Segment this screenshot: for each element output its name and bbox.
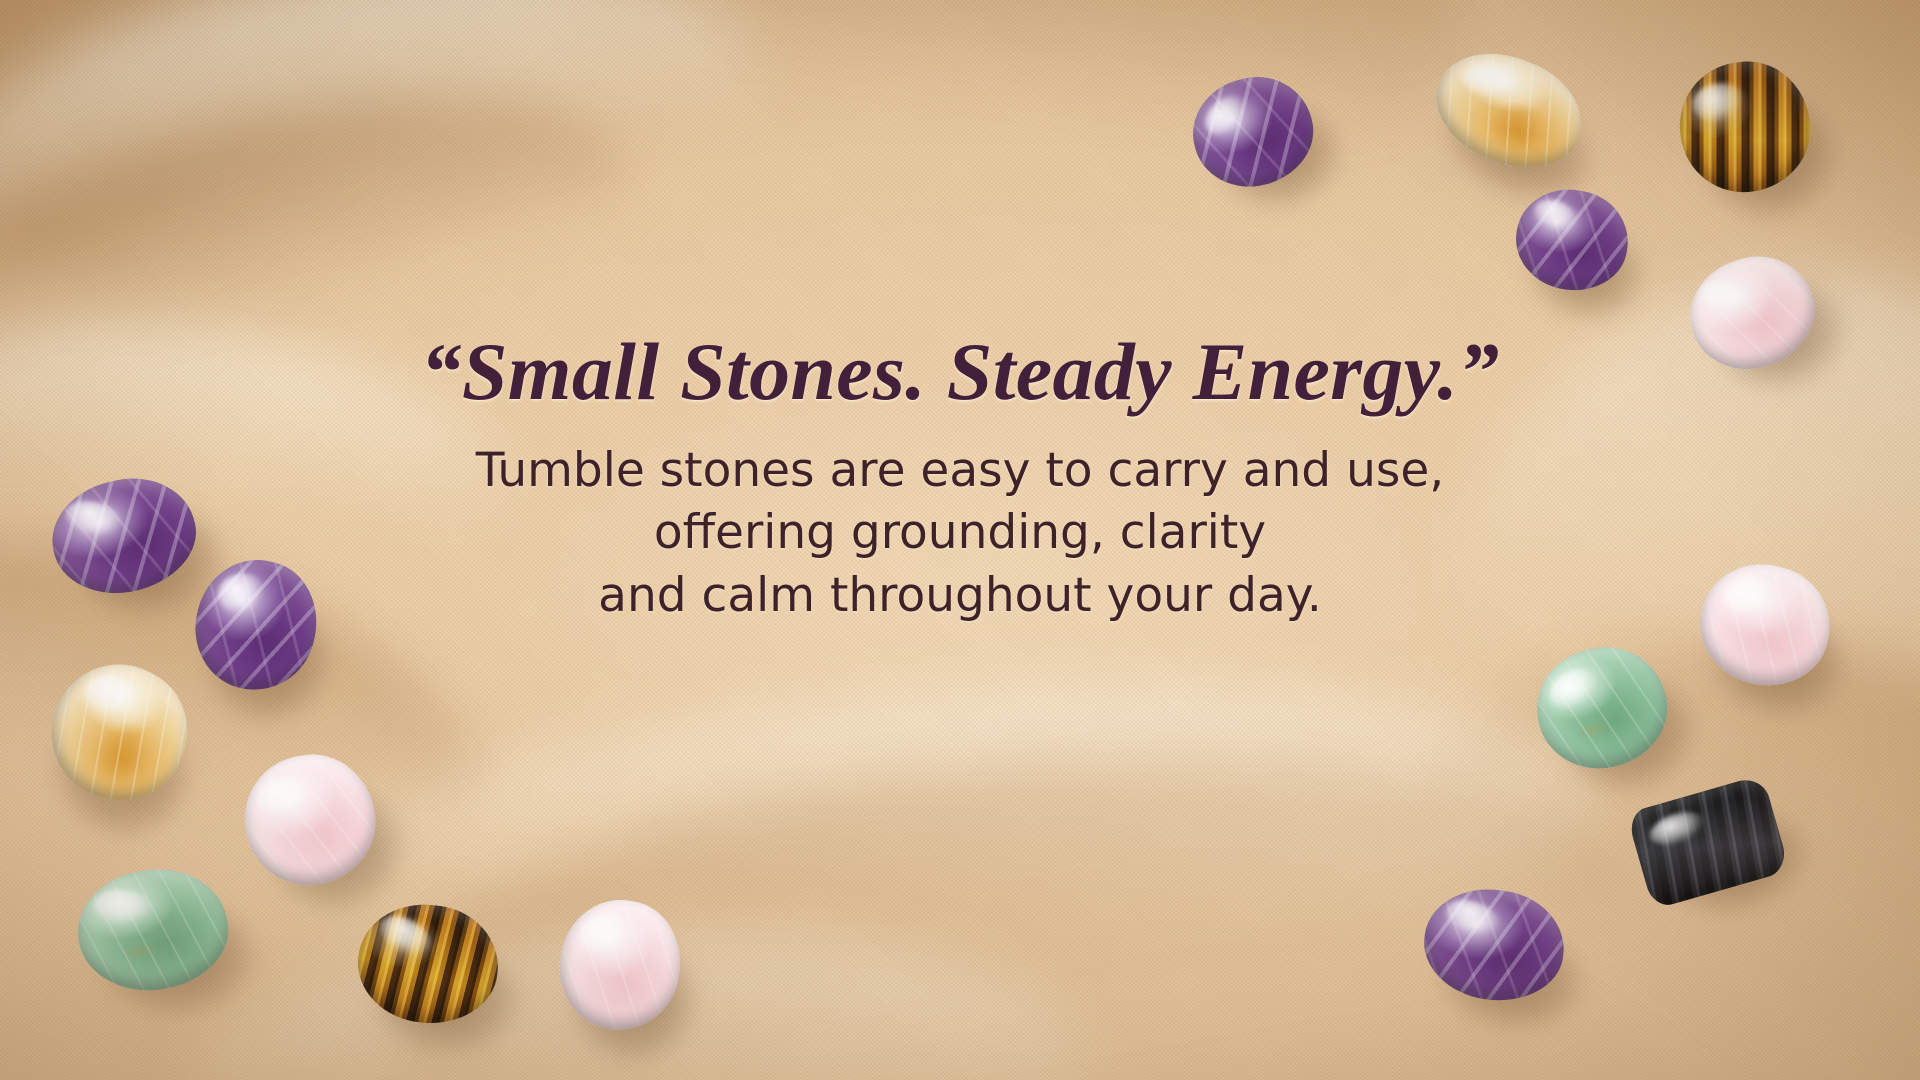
stone-body <box>1508 181 1636 299</box>
amethyst-tumble-bottom-right <box>1417 881 1571 1009</box>
body-copy-line: Tumble stones are easy to carry and use, <box>330 440 1590 503</box>
copy-block: “Small Stones. Steady Energy.” Tumble st… <box>0 330 1920 627</box>
stone-veins-texture <box>235 745 386 896</box>
green-aventurine-tumble-right <box>1526 636 1678 780</box>
body-copy-line: and calm throughout your day. <box>330 565 1590 628</box>
banner-canvas: “Small Stones. Steady Energy.” Tumble st… <box>0 0 1920 1080</box>
stone-veins-texture <box>550 891 691 1040</box>
stone-sheen-texture <box>352 898 504 1030</box>
stone-sheen-texture <box>1672 54 1819 201</box>
body-copy: Tumble stones are easy to carry and use,… <box>330 440 1590 628</box>
stone-body <box>72 862 234 997</box>
tigers-eye-tumble-bottom <box>352 898 504 1030</box>
tigers-eye-tumble-top-right <box>1672 54 1819 201</box>
stone-body <box>352 898 504 1030</box>
green-aventurine-tumble-bottom-left <box>72 862 234 997</box>
stone-chev-texture <box>1508 181 1636 299</box>
stone-veins-texture <box>72 862 234 997</box>
rose-quartz-tumble-bottom-center <box>550 891 691 1040</box>
headline: “Small Stones. Steady Energy.” <box>330 330 1590 414</box>
rose-quartz-tumble-left <box>235 745 386 896</box>
stone-body <box>1672 54 1819 201</box>
stone-chev-texture <box>1417 881 1571 1009</box>
stone-body <box>1417 881 1571 1009</box>
stone-body <box>235 745 386 896</box>
stone-body <box>550 891 691 1040</box>
body-copy-line: offering grounding, clarity <box>330 502 1590 565</box>
amethyst-tumble-upper-right <box>1508 181 1636 299</box>
